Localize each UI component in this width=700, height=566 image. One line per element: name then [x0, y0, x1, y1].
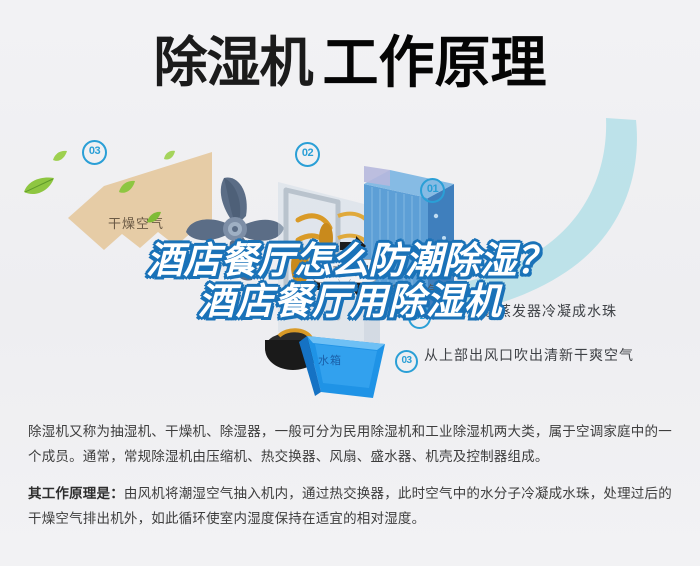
page-title: 除湿机 工作原理	[0, 22, 700, 104]
badge-01-moist-air: 01	[420, 178, 445, 203]
title-part-b: 工作原理	[323, 35, 547, 91]
badge-03-dry-air: 03	[82, 140, 107, 165]
leaf-icon	[52, 150, 68, 164]
caption-step-03: 03从上部出风口吹出清新干爽空气	[395, 345, 634, 373]
caption-step-03-text: 从上部出风口吹出清新干爽空气	[424, 347, 634, 363]
badge-03-caption: 03	[395, 350, 418, 373]
article-body: 除湿机又称为抽湿机、干燥机、除湿器，一般可分为民用除湿机和工业除湿机两大类，属于…	[28, 420, 676, 544]
paragraph-2-rest: 由风机将潮湿空气抽入机内，通过热交换器，此时空气中的水分子冷凝成水珠，处理过后的…	[28, 486, 672, 526]
caption-step-02-text: 水分子遇蒸发器冷凝成水珠	[437, 303, 617, 319]
heat-exchanger-callout: 热交换器	[310, 259, 380, 283]
water-tank-label: 水箱	[318, 352, 342, 368]
moist-air-label: 潮湿空气	[385, 280, 441, 299]
leaf-icon	[146, 211, 162, 225]
infographic-page: 除湿机 工作原理 干燥空气 03	[0, 0, 700, 566]
badge-02-heat-exchanger: 02	[295, 142, 320, 167]
paragraph-1: 除湿机又称为抽湿机、干燥机、除湿器，一般可分为民用除湿机和工业除湿机两大类，属于…	[28, 420, 676, 470]
paragraph-2-lead: 其工作原理是：	[28, 486, 124, 501]
leaf-icon	[22, 176, 56, 198]
paragraph-2: 其工作原理是：由风机将潮湿空气抽入机内，通过热交换器，此时空气中的水分子冷凝成水…	[28, 482, 676, 532]
leaf-icon	[118, 180, 136, 196]
caption-step-02: 02水分子遇蒸发器冷凝成水珠	[408, 301, 617, 329]
leaf-icon	[163, 150, 176, 161]
badge-02-caption: 02	[408, 306, 431, 329]
callout-tail	[338, 278, 351, 289]
title-part-a: 除湿机	[154, 36, 313, 90]
